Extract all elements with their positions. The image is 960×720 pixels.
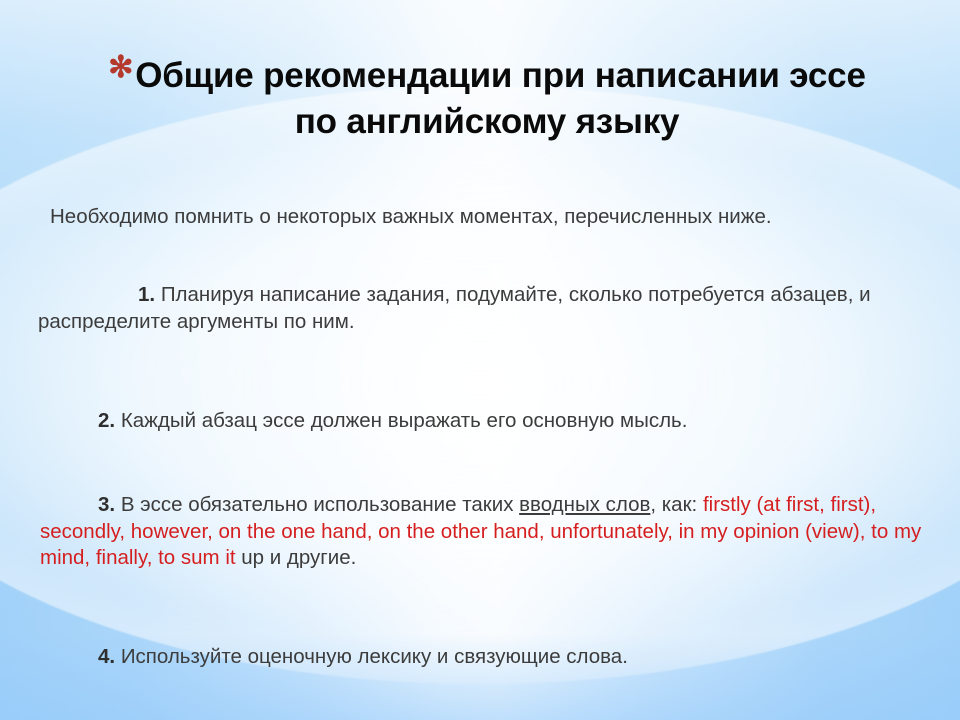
- title-line-1-text: Общие рекомендации при написании эссе: [135, 56, 866, 95]
- intro-paragraph: Необходимо помнить о некоторых важных мо…: [50, 204, 930, 231]
- list-item-2-text: Каждый абзац эссе должен выражать его ос…: [121, 409, 688, 432]
- slide-canvas: ✻Общие рекомендации при написании эссе п…: [0, 0, 960, 720]
- title-line-2-text: по английскому языку: [52, 99, 922, 145]
- list-item-2-number: 2.: [98, 409, 115, 432]
- list-item-2: 2. Каждый абзац эссе должен выражать его…: [98, 408, 928, 435]
- title-line-1: ✻Общие рекомендации при написании эссе: [52, 48, 922, 99]
- list-item-4: 4. Используйте оценочную лексику и связу…: [98, 644, 928, 671]
- slide-content: ✻Общие рекомендации при написании эссе п…: [0, 0, 960, 720]
- list-item-1: 1. Планируя написание задания, подумайте…: [38, 282, 918, 335]
- list-item-1-number: 1.: [138, 283, 155, 306]
- list-item-3: 3. В эссе обязательно использование таки…: [40, 492, 930, 572]
- list-item-3-number: 3.: [98, 493, 115, 516]
- slide-title: ✻Общие рекомендации при написании эссе п…: [52, 48, 922, 144]
- asterisk-bullet-icon: ✻: [108, 51, 133, 84]
- list-item-3-underlined-term: вводных слов: [519, 493, 650, 516]
- list-item-3-tail-text: up и другие.: [236, 546, 357, 569]
- list-item-1-text: Планируя написание задания, подумайте, с…: [38, 283, 871, 333]
- list-item-3-mid-text: , как:: [650, 493, 703, 516]
- list-item-4-number: 4.: [98, 645, 115, 668]
- list-item-3-lead-text: В эссе обязательно использование таких: [121, 493, 519, 516]
- list-item-4-text: Используйте оценочную лексику и связующи…: [121, 645, 628, 668]
